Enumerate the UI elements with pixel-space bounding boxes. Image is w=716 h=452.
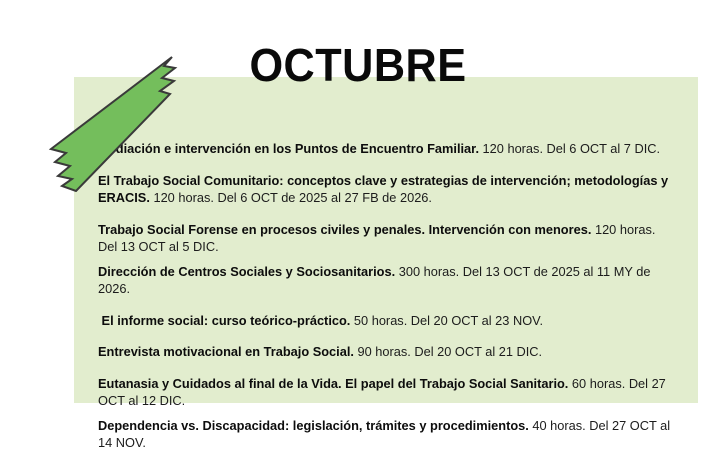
page-title: OCTUBRE [21,39,694,91]
course-name: Trabajo Social Forense en procesos civil… [98,222,591,237]
course-detail: 120 horas. Del 6 OCT al 7 DIC. [479,141,660,156]
course-name: Entrevista motivacional en Trabajo Socia… [98,344,354,359]
list-item: Eutanasia y Cuidados al final de la Vida… [98,375,672,410]
course-detail: 120 horas. Del 6 OCT de 2025 al 27 FB de… [150,190,432,205]
course-name: Dirección de Centros Sociales y Sociosan… [98,264,395,279]
course-name: Dependencia vs. Discapacidad: legislació… [98,418,529,433]
course-detail: 90 horas. Del 20 OCT al 21 DIC. [354,344,542,359]
list-item: Trabajo Social Forense en procesos civil… [98,221,672,256]
course-detail: 50 horas. Del 20 OCT al 23 NOV. [350,313,543,328]
course-name: Eutanasia y Cuidados al final de la Vida… [98,376,568,391]
poster-canvas: OCTUBRE Mediación e intervención en los … [0,0,716,412]
list-item: Dependencia vs. Discapacidad: legislació… [98,417,672,452]
list-item: El informe social: curso teórico-práctic… [98,312,672,330]
course-name: Mediación e intervención en los Puntos d… [98,141,479,156]
list-item: Dirección de Centros Sociales y Sociosan… [98,263,672,298]
course-list: Mediación e intervención en los Puntos d… [98,140,690,452]
list-item: El Trabajo Social Comunitario: conceptos… [98,172,672,207]
course-name: El informe social: curso teórico-práctic… [102,313,351,328]
list-item: Mediación e intervención en los Puntos d… [98,140,672,158]
list-item: Entrevista motivacional en Trabajo Socia… [98,343,672,361]
